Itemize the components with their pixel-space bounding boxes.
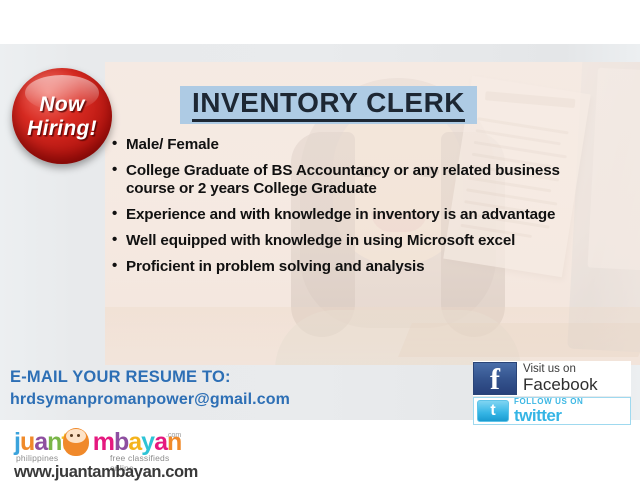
list-item: Well equipped with knowledge in using Mi… — [112, 232, 582, 250]
list-item: Experience and with knowledge in invento… — [112, 206, 582, 224]
twitter-glyph: t — [490, 403, 495, 419]
facebook-text: Visit us on Facebook — [523, 364, 598, 394]
email-address[interactable]: hrdsymanpromanpower@gmail.com — [10, 391, 290, 409]
facebook-icon: f — [473, 362, 517, 395]
requirements-list: Male/ Female College Graduate of BS Acco… — [112, 136, 582, 284]
mascot-eye-left — [70, 434, 73, 437]
contact-block: E-MAIL YOUR RESUME TO: hrdsymanpromanpow… — [10, 368, 290, 409]
job-title-banner: INVENTORY CLERK — [180, 86, 477, 124]
mascot-icon — [63, 428, 89, 456]
logo-letter-1: u — [20, 428, 34, 456]
now-hiring-badge: Now Hiring! — [12, 68, 112, 164]
logo-letter-6: b — [114, 428, 128, 456]
facebook-line-2: Facebook — [523, 376, 598, 393]
job-ad-poster: Now Hiring! INVENTORY CLERK Male/ Female… — [0, 0, 640, 480]
page-title: INVENTORY CLERK — [192, 88, 465, 123]
facebook-badge[interactable]: f Visit us on Facebook — [473, 361, 631, 396]
mascot-face — [66, 429, 86, 443]
list-item: Proficient in problem solving and analys… — [112, 258, 582, 276]
badge-line-2: Hiring! — [27, 118, 97, 139]
logo-letter-5: m — [93, 428, 114, 456]
logo-tag-left: philippines — [16, 453, 58, 463]
list-item: College Graduate of BS Accountancy or an… — [112, 162, 582, 198]
logo-letter-3: n — [47, 428, 61, 456]
logo-url[interactable]: www.juantambayan.com — [14, 463, 198, 482]
facebook-line-1: Visit us on — [523, 364, 598, 376]
logo-dotcom: .com — [166, 432, 181, 439]
mascot-eye-right — [77, 434, 80, 437]
logo-letter-2: a — [34, 428, 47, 456]
badge-line-1: Now — [39, 94, 84, 115]
twitter-badge[interactable]: t FOLLOW US ON twitter — [473, 397, 631, 425]
twitter-line-1: FOLLOW US ON — [514, 398, 583, 406]
juantambayan-logo[interactable]: juantmbayan .com philippines free classi… — [14, 430, 181, 455]
logo-letter-8: y — [141, 428, 154, 456]
twitter-line-2: twitter — [514, 407, 583, 424]
logo-wordmark: juantmbayan — [14, 430, 181, 455]
logo-letter-7: a — [128, 428, 141, 456]
twitter-text: FOLLOW US ON twitter — [514, 398, 583, 424]
list-item: Male/ Female — [112, 136, 582, 154]
facebook-glyph: f — [490, 366, 500, 394]
twitter-bird-icon: t — [477, 400, 509, 422]
email-heading: E-MAIL YOUR RESUME TO: — [10, 368, 290, 387]
